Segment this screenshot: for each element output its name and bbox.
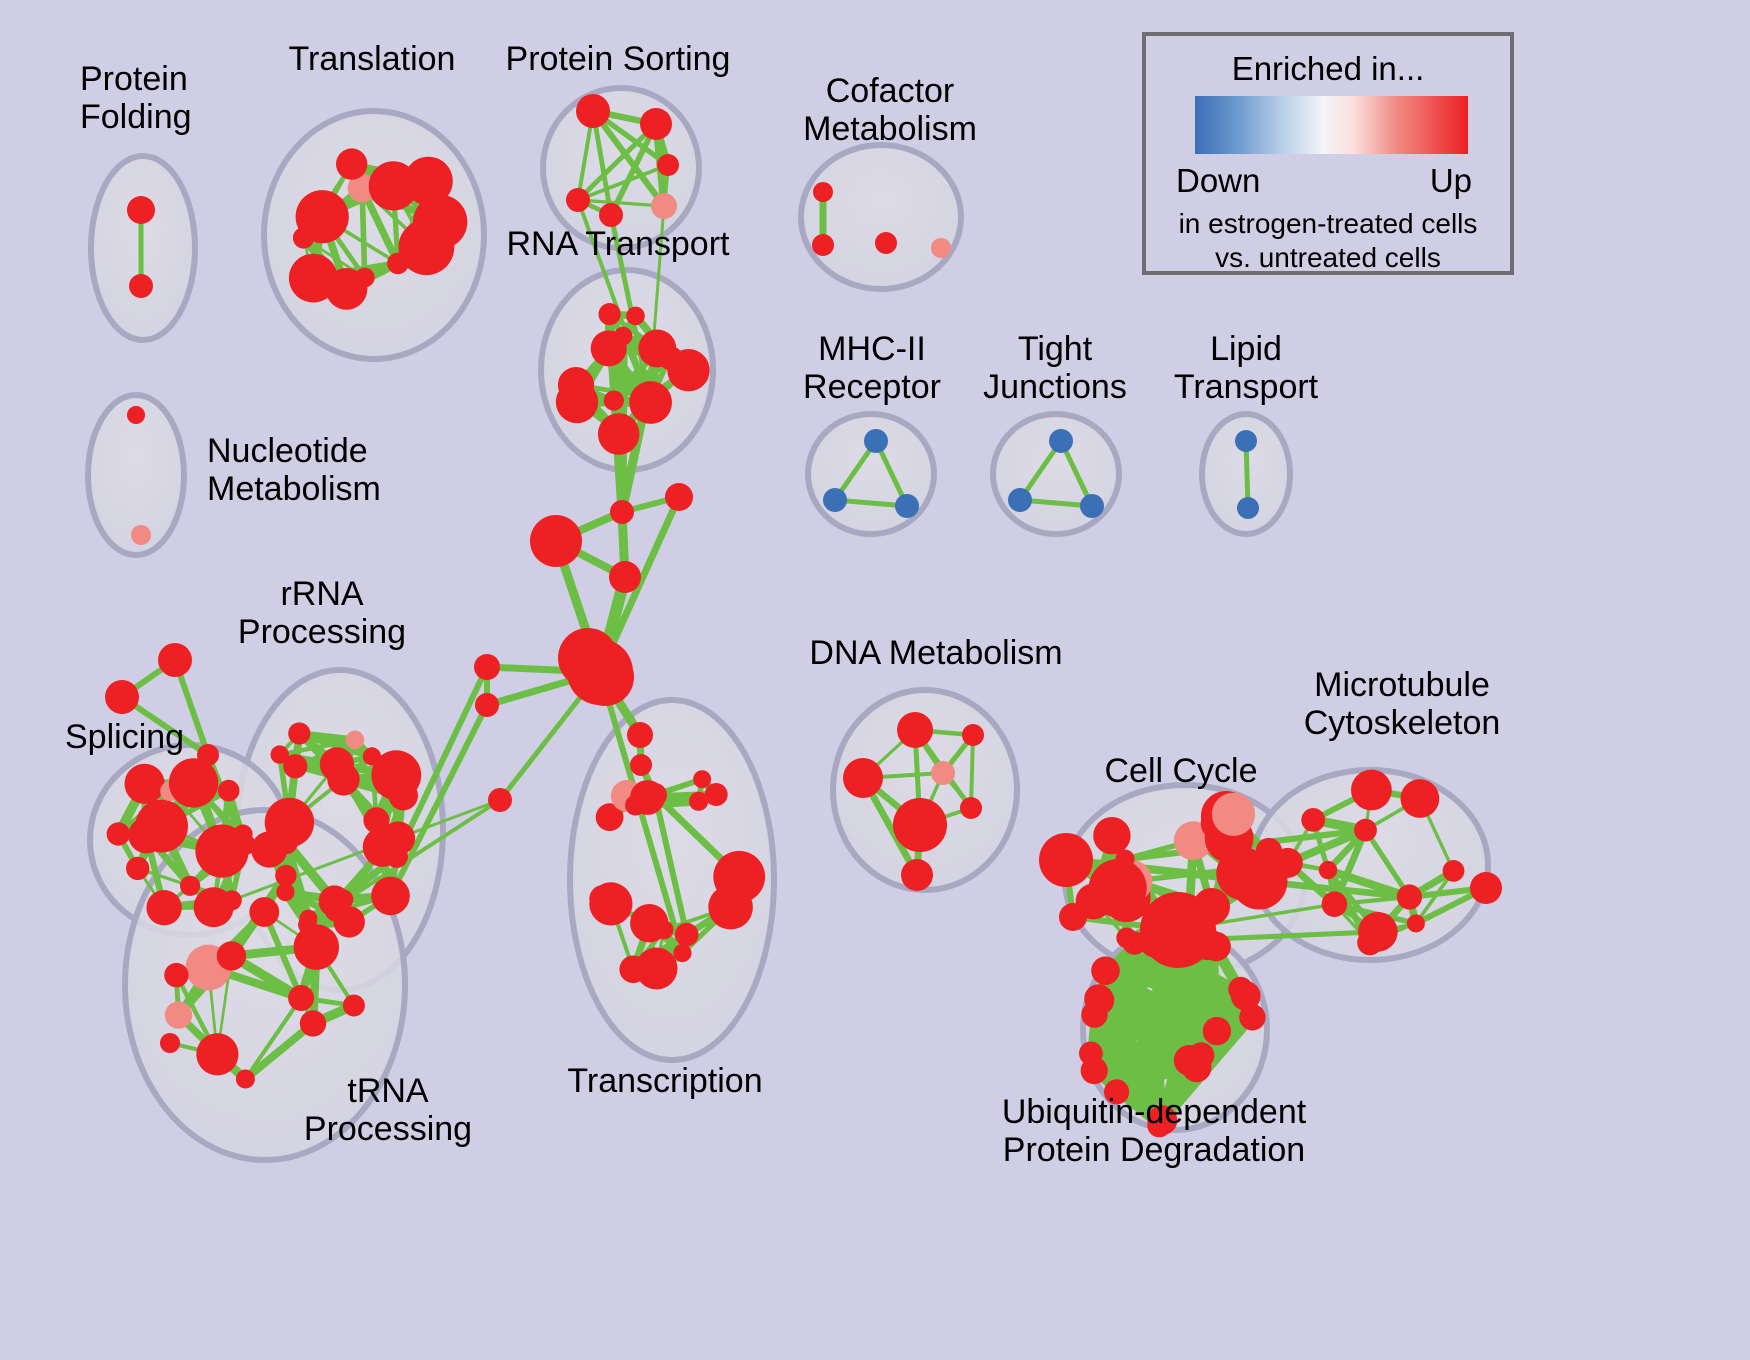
network-node[interactable]: [599, 203, 623, 227]
network-node[interactable]: [1084, 984, 1113, 1013]
cluster-label-protein-sorting: Protein Sorting: [506, 40, 731, 78]
network-node[interactable]: [931, 238, 951, 258]
network-node[interactable]: [475, 693, 499, 717]
network-node[interactable]: [1443, 860, 1465, 882]
cluster-label-lipid-transport: Lipid Transport: [1174, 330, 1318, 406]
network-node[interactable]: [667, 349, 709, 391]
network-node[interactable]: [294, 924, 339, 969]
network-node[interactable]: [651, 193, 677, 219]
network-node[interactable]: [705, 783, 728, 806]
network-node[interactable]: [962, 724, 984, 746]
network-node[interactable]: [1301, 808, 1325, 832]
network-node[interactable]: [146, 890, 181, 925]
network-node[interactable]: [643, 783, 667, 807]
legend-subtitle-line2: vs. untreated cells: [1146, 242, 1510, 274]
cluster-label-cell-cycle: Cell Cycle: [1104, 752, 1257, 790]
network-node[interactable]: [283, 754, 307, 778]
network-node[interactable]: [599, 303, 621, 325]
network-node[interactable]: [1079, 1042, 1103, 1066]
cluster-label-transcription: Transcription: [567, 1062, 762, 1100]
network-node[interactable]: [1351, 770, 1392, 811]
network-node[interactable]: [1407, 914, 1425, 932]
network-node[interactable]: [1039, 833, 1093, 887]
network-node[interactable]: [960, 797, 982, 819]
network-node[interactable]: [1354, 819, 1377, 842]
cluster-label-microtubule-cytoskeleton: Microtubule Cytoskeleton: [1304, 666, 1501, 742]
network-node[interactable]: [897, 712, 933, 748]
network-node[interactable]: [1319, 861, 1337, 879]
cluster-label-mhc-ii-receptor: MHC-II Receptor: [803, 330, 941, 406]
network-node[interactable]: [160, 1033, 180, 1053]
network-node[interactable]: [218, 780, 240, 802]
network-node[interactable]: [164, 963, 188, 987]
network-node[interactable]: [619, 956, 647, 984]
network-node[interactable]: [875, 232, 897, 254]
network-node[interactable]: [640, 108, 672, 140]
network-node[interactable]: [1357, 930, 1382, 955]
network-node[interactable]: [195, 825, 248, 878]
network-node[interactable]: [693, 770, 711, 788]
network-node[interactable]: [1093, 817, 1130, 854]
legend-title: Enriched in...: [1146, 50, 1510, 88]
network-node[interactable]: [336, 148, 367, 179]
network-node[interactable]: [1203, 1017, 1231, 1045]
cluster-label-rrna-processing: rRNA Processing: [238, 575, 406, 651]
network-node[interactable]: [1212, 793, 1255, 836]
cluster-label-ubiquitin-protein-degradation: Ubiquitin-dependent Protein Degradation: [1002, 1093, 1306, 1169]
network-node[interactable]: [319, 885, 351, 917]
legend-subtitle-line1: in estrogen-treated cells: [1146, 208, 1510, 240]
network-node[interactable]: [566, 188, 590, 212]
cluster-label-tight-junctions: Tight Junctions: [983, 330, 1127, 406]
cluster-label-cofactor-metabolism: Cofactor Metabolism: [803, 72, 977, 148]
network-node[interactable]: [1235, 430, 1257, 452]
network-node[interactable]: [657, 154, 679, 176]
network-node[interactable]: [576, 94, 610, 128]
network-node[interactable]: [105, 680, 139, 714]
network-node[interactable]: [413, 195, 467, 249]
network-node[interactable]: [129, 274, 153, 298]
network-node[interactable]: [1080, 494, 1104, 518]
network-node[interactable]: [1174, 1045, 1205, 1076]
network-node[interactable]: [610, 500, 634, 524]
network-node[interactable]: [895, 494, 919, 518]
network-node[interactable]: [609, 561, 641, 593]
network-node[interactable]: [567, 639, 633, 705]
network-node[interactable]: [126, 857, 149, 880]
network-node[interactable]: [689, 792, 708, 811]
network-node[interactable]: [530, 515, 582, 567]
network-node[interactable]: [343, 995, 365, 1017]
legend-box: Enriched in... Down Up in estrogen-treat…: [1142, 32, 1514, 275]
network-node[interactable]: [893, 798, 947, 852]
network-node[interactable]: [901, 859, 933, 891]
network-node[interactable]: [217, 941, 246, 970]
network-node[interactable]: [125, 764, 165, 804]
network-node[interactable]: [107, 822, 130, 845]
network-node[interactable]: [371, 877, 410, 916]
network-node[interactable]: [1008, 488, 1032, 512]
network-node[interactable]: [1091, 956, 1120, 985]
enrichment-map-figure: Protein FoldingTranslationProtein Sortin…: [0, 0, 1750, 1360]
cluster-label-dna-metabolism: DNA Metabolism: [809, 634, 1062, 672]
network-node[interactable]: [127, 406, 145, 424]
network-node[interactable]: [1230, 869, 1256, 895]
network-node[interactable]: [1049, 429, 1073, 453]
network-node[interactable]: [388, 781, 418, 811]
network-node[interactable]: [197, 744, 219, 766]
network-node[interactable]: [665, 483, 693, 511]
network-node[interactable]: [296, 190, 349, 243]
network-node[interactable]: [1470, 872, 1502, 904]
cluster-label-splicing: Splicing: [65, 718, 184, 756]
network-node[interactable]: [165, 1001, 192, 1028]
network-node[interactable]: [265, 798, 314, 847]
network-node[interactable]: [931, 761, 955, 785]
network-node[interactable]: [629, 381, 672, 424]
network-node[interactable]: [180, 876, 200, 896]
network-node[interactable]: [675, 923, 699, 947]
network-node[interactable]: [1273, 848, 1303, 878]
network-node[interactable]: [708, 885, 753, 930]
network-node[interactable]: [1401, 779, 1440, 818]
network-node[interactable]: [1239, 1004, 1265, 1030]
network-node[interactable]: [289, 254, 338, 303]
network-node[interactable]: [823, 488, 847, 512]
network-node[interactable]: [387, 253, 409, 275]
network-node[interactable]: [1237, 497, 1259, 519]
network-node[interactable]: [381, 821, 415, 855]
network-node[interactable]: [1397, 884, 1422, 909]
cluster-label-trna-processing: tRNA Processing: [304, 1072, 472, 1148]
network-node[interactable]: [626, 307, 645, 326]
network-node[interactable]: [194, 887, 234, 927]
network-node[interactable]: [236, 1070, 255, 1089]
network-node[interactable]: [474, 654, 500, 680]
network-node[interactable]: [135, 800, 188, 853]
network-node[interactable]: [673, 944, 691, 962]
cluster-label-nucleotide-metabolism: Nucleotide Metabolism: [207, 432, 381, 508]
network-node[interactable]: [812, 234, 834, 256]
network-node[interactable]: [1102, 867, 1127, 892]
network-node[interactable]: [1140, 892, 1216, 968]
network-node[interactable]: [598, 413, 640, 455]
network-node[interactable]: [158, 643, 192, 677]
network-node[interactable]: [627, 722, 653, 748]
cluster-label-translation: Translation: [289, 40, 456, 78]
network-node[interactable]: [196, 1033, 238, 1075]
network-node[interactable]: [604, 391, 624, 411]
network-node[interactable]: [127, 196, 155, 224]
network-node[interactable]: [843, 758, 883, 798]
network-node[interactable]: [630, 904, 668, 942]
network-node[interactable]: [346, 731, 365, 750]
network-node[interactable]: [614, 327, 633, 346]
network-node[interactable]: [249, 897, 279, 927]
network-node[interactable]: [131, 525, 151, 545]
network-node[interactable]: [288, 722, 310, 744]
cluster-label-protein-folding: Protein Folding: [80, 60, 192, 136]
network-node[interactable]: [488, 788, 512, 812]
network-node[interactable]: [275, 865, 296, 886]
network-node[interactable]: [300, 1010, 326, 1036]
network-node[interactable]: [813, 182, 833, 202]
network-node[interactable]: [1059, 903, 1087, 931]
network-node[interactable]: [1322, 891, 1348, 917]
legend-color-gradient: [1195, 96, 1468, 154]
network-node[interactable]: [320, 747, 354, 781]
legend-high-label: Up: [1430, 162, 1472, 200]
legend-low-label: Down: [1176, 162, 1260, 200]
cluster-label-rna-transport: RNA Transport: [507, 225, 730, 263]
network-node[interactable]: [630, 754, 652, 776]
network-node[interactable]: [558, 367, 594, 403]
network-node[interactable]: [864, 429, 888, 453]
network-node[interactable]: [589, 882, 632, 925]
network-node[interactable]: [288, 985, 314, 1011]
